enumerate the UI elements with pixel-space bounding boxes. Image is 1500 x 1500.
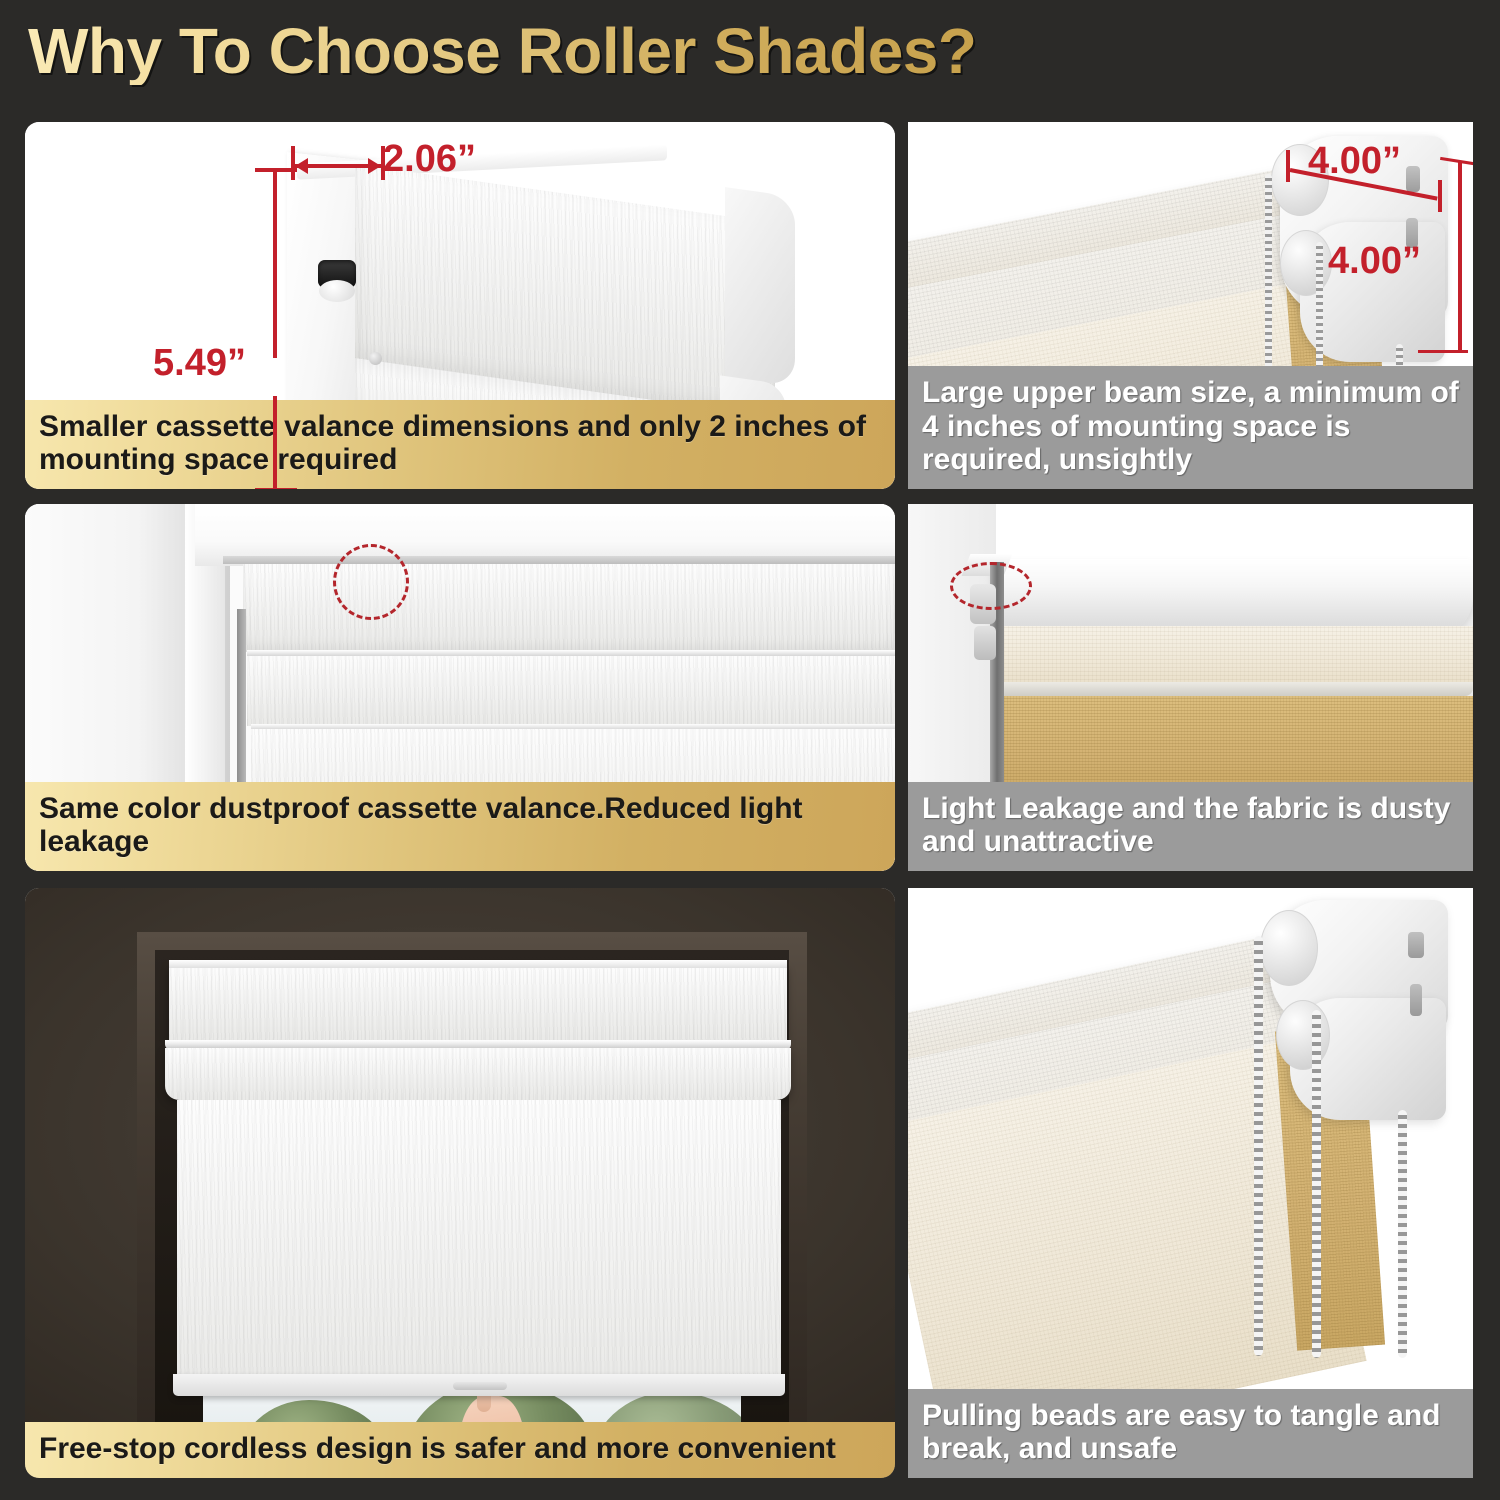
dimension-cap-bottom [255, 488, 297, 489]
panel-free-stop-cordless: Free-stop cordless design is safer and m… [25, 888, 895, 1478]
product-image-room-window [25, 888, 895, 1478]
dimension-cap-top [255, 168, 297, 172]
dimension-arrow-left-icon [295, 158, 308, 174]
highlight-ring-icon [333, 544, 409, 620]
panel-caption: Light Leakage and the fabric is dusty an… [908, 782, 1473, 871]
dimension-label-width: 2.06” [383, 138, 476, 181]
panel-dustproof-cassette: smaller gap Same color dustproof cassett… [25, 504, 895, 871]
bead-chain [1254, 936, 1263, 1356]
infographic-page: Why To Choose Roller Shades? [0, 0, 1500, 1500]
panel-caption: Pulling beads are easy to tangle and bre… [908, 1389, 1473, 1478]
panel-caption: Same color dustproof cassette valance.Re… [25, 782, 895, 871]
dimension-line-height [273, 170, 277, 358]
panel-caption: Large upper beam size, a minimum of 4 in… [908, 366, 1473, 489]
dimension-cap-bottom [1418, 350, 1468, 353]
panel-smaller-cassette-valance: 2.06” 5.49” Smaller cassette valance dim… [25, 122, 895, 489]
dimension-label-width: 4.00” [1308, 140, 1401, 183]
dimension-tick-right [1438, 180, 1442, 212]
dimension-tick-left [1286, 150, 1290, 182]
panel-light-leakage: Large gap Light Leakage and the fabric i… [908, 504, 1473, 871]
dimension-line-height [1458, 162, 1462, 352]
panel-pulling-beads: Pulling beads are easy to tangle and bre… [908, 888, 1473, 1478]
panel-large-upper-beam: 4.00” 4.00” Large upper beam size, a min… [908, 122, 1473, 489]
dimension-label-height: 4.00” [1328, 240, 1421, 283]
panel-caption: Smaller cassette valance dimensions and … [25, 400, 895, 489]
highlight-ring-icon [950, 562, 1032, 610]
dimension-label-height: 5.49” [153, 342, 246, 385]
bead-chain [1312, 1010, 1321, 1358]
dimension-arrow-right-icon [368, 158, 381, 174]
panel-caption: Free-stop cordless design is safer and m… [25, 1422, 895, 1478]
bead-chain [1398, 1110, 1407, 1358]
dimension-line-height-2 [273, 396, 277, 489]
page-title: Why To Choose Roller Shades? [28, 18, 976, 85]
